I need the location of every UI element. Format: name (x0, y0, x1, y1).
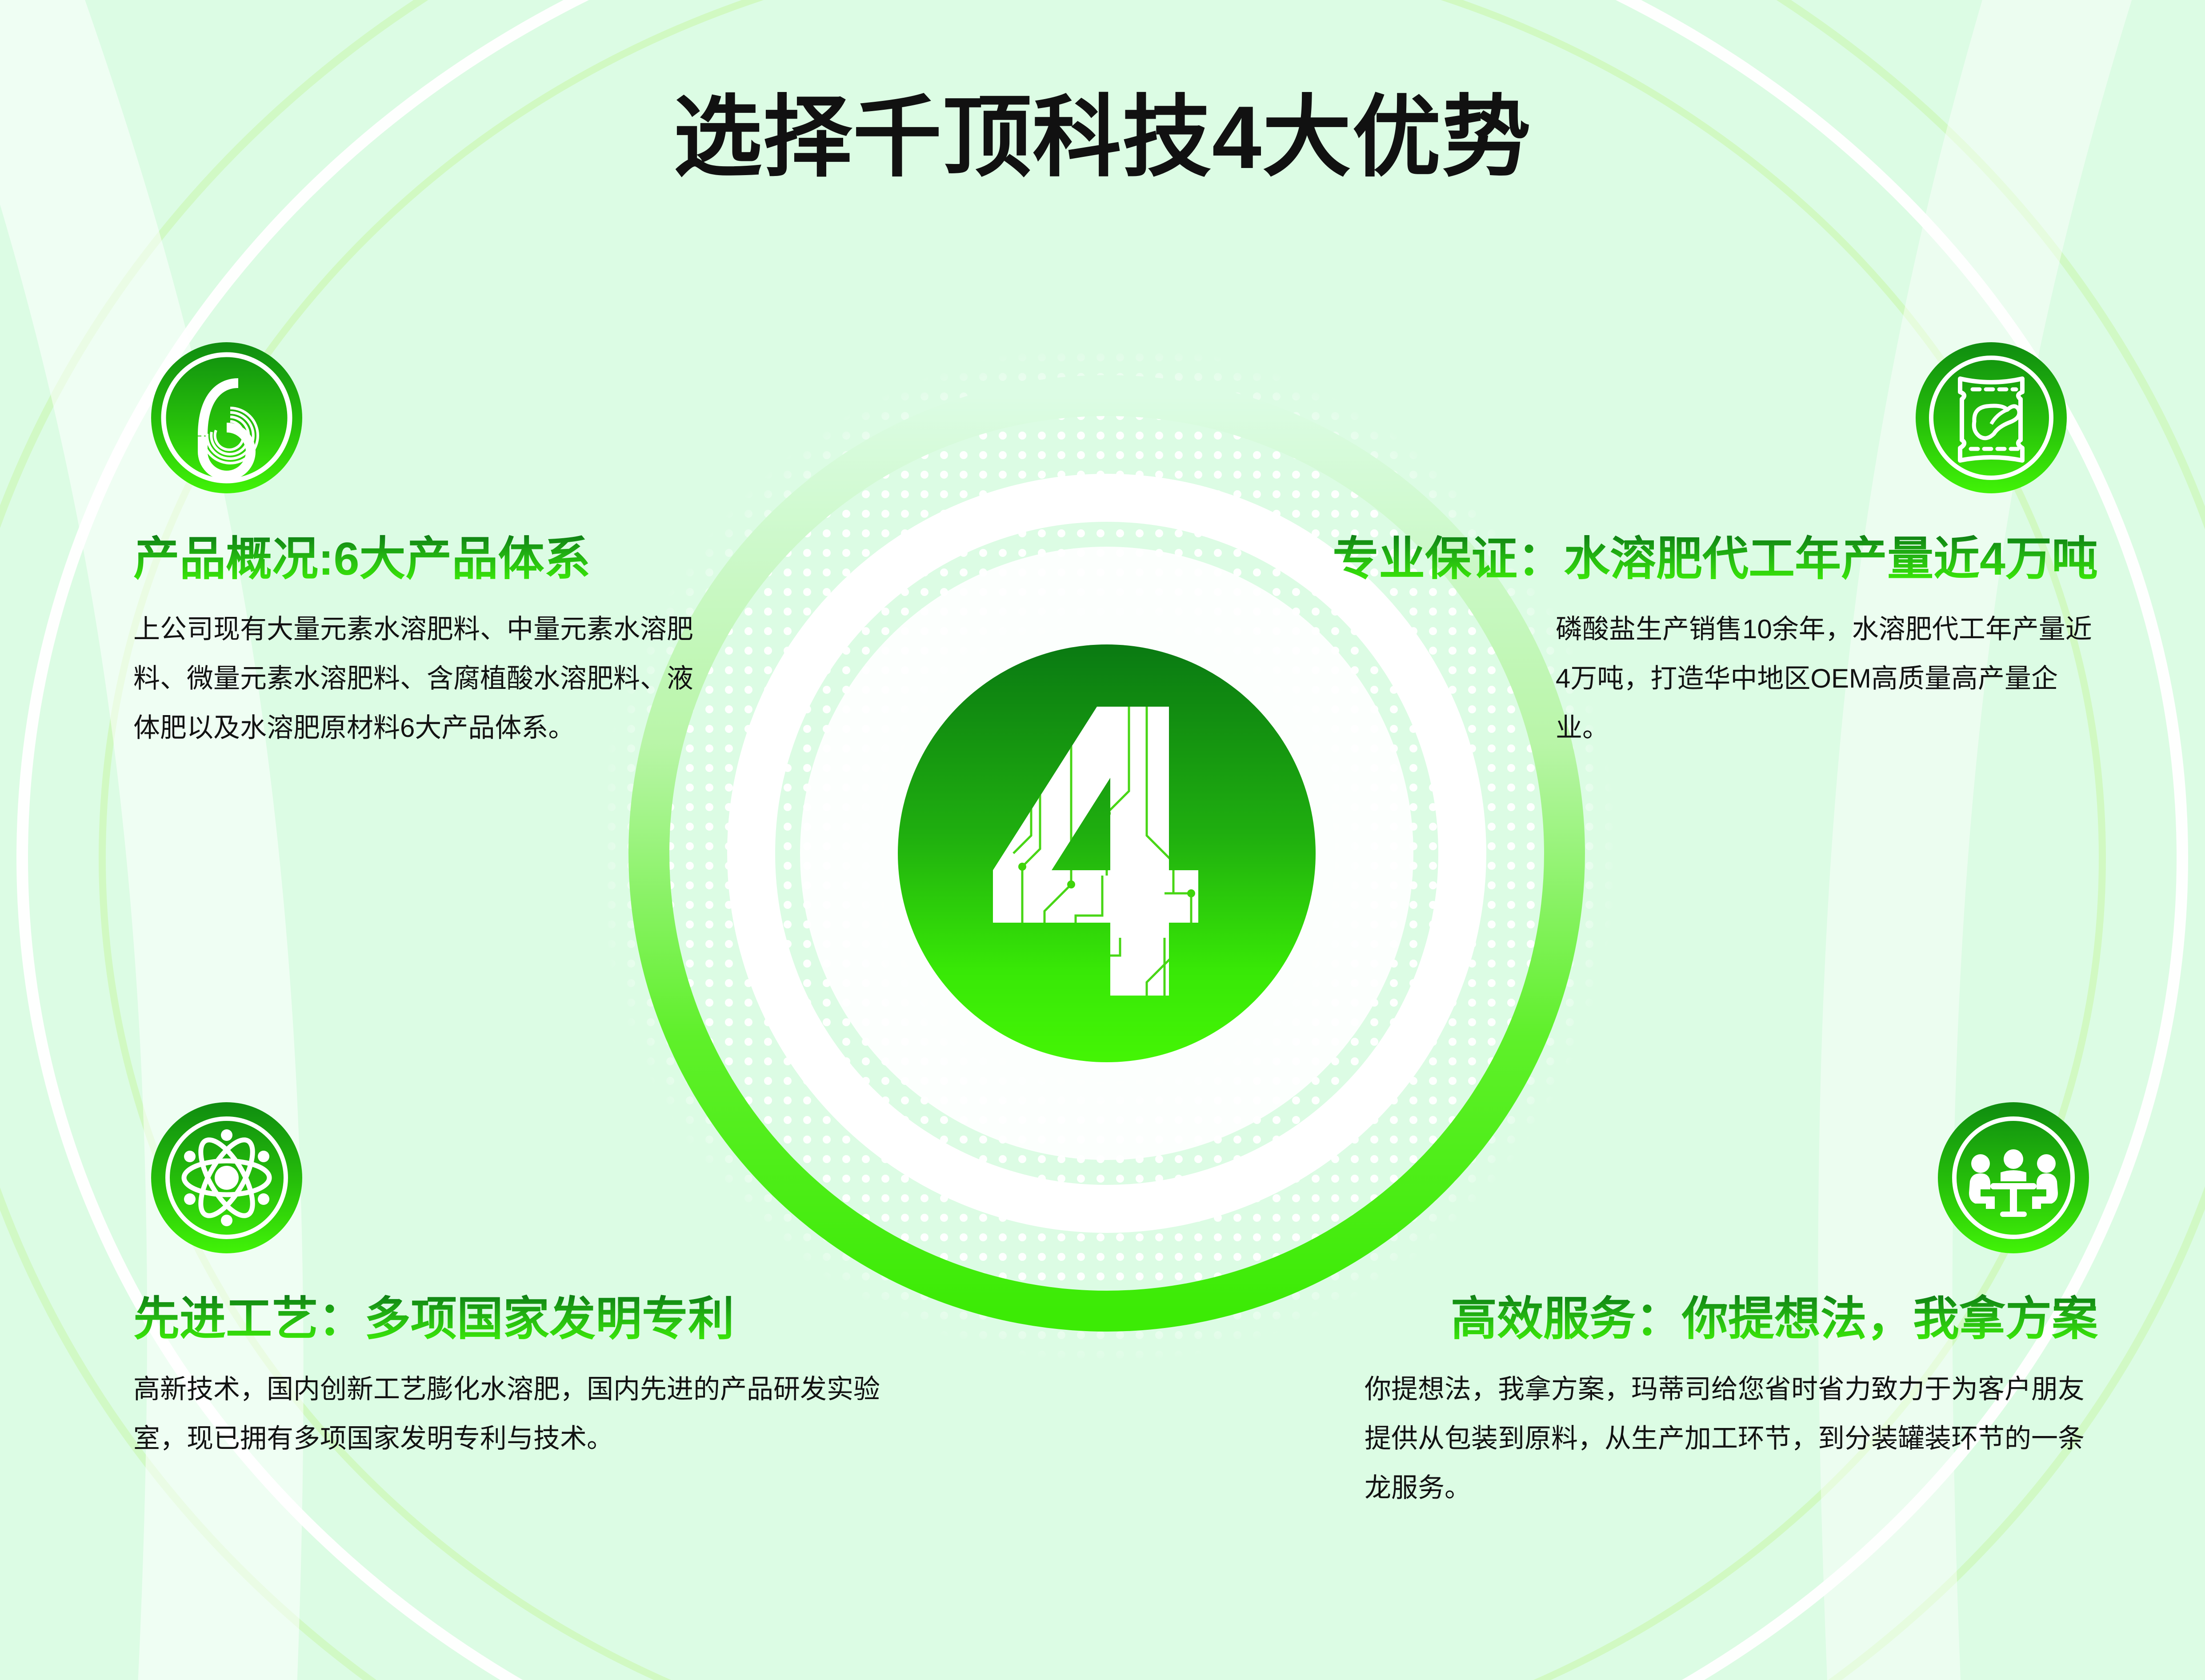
icon-wrapper (151, 342, 302, 493)
atom-icon (151, 1102, 302, 1253)
center-number-badge (898, 644, 1316, 1062)
feature-body: 磷酸盐生产销售10余年，水溶肥代工年产量近4万吨，打造华中地区OEM高质量高产量… (1556, 604, 2098, 752)
digit-four-shape (993, 707, 1198, 996)
icon-wrapper (1916, 342, 2067, 493)
number-six-rings-icon (151, 342, 302, 493)
fertilizer-bag-icon (1916, 342, 2067, 493)
meeting-table-icon (1938, 1102, 2089, 1253)
icon-wrapper (1938, 1102, 2089, 1253)
feature-body: 高新技术，国内创新工艺膨化水溶肥，国内先进的产品研发实验室，现已拥有多项国家发明… (133, 1364, 889, 1463)
icon-wrapper (151, 1102, 302, 1253)
feature-heading: 高效服务：你提想法，我拿方案 (1451, 1293, 2098, 1345)
center-four-graphic (898, 644, 1316, 1062)
page-title: 选择千顶科技4大优势 (0, 93, 2205, 182)
feature-body: 你提想法，我拿方案，玛蒂司给您省时省力致力于为客户朋友提供从包装到原料，从生产加… (1365, 1364, 2098, 1512)
infographic-stage: 选择千顶科技4大优势 (0, 0, 2205, 1680)
feature-heading: 专业保证：水溶肥代工年产量近4万吨 (1333, 533, 2098, 585)
feature-heading: 先进工艺：多项国家发明专利 (133, 1293, 734, 1345)
feature-body: 上公司现有大量元素水溶肥料、中量元素水溶肥料、微量元素水溶肥料、含腐植酸水溶肥料… (133, 604, 711, 752)
feature-heading: 产品概况:6大产品体系 (133, 533, 590, 585)
